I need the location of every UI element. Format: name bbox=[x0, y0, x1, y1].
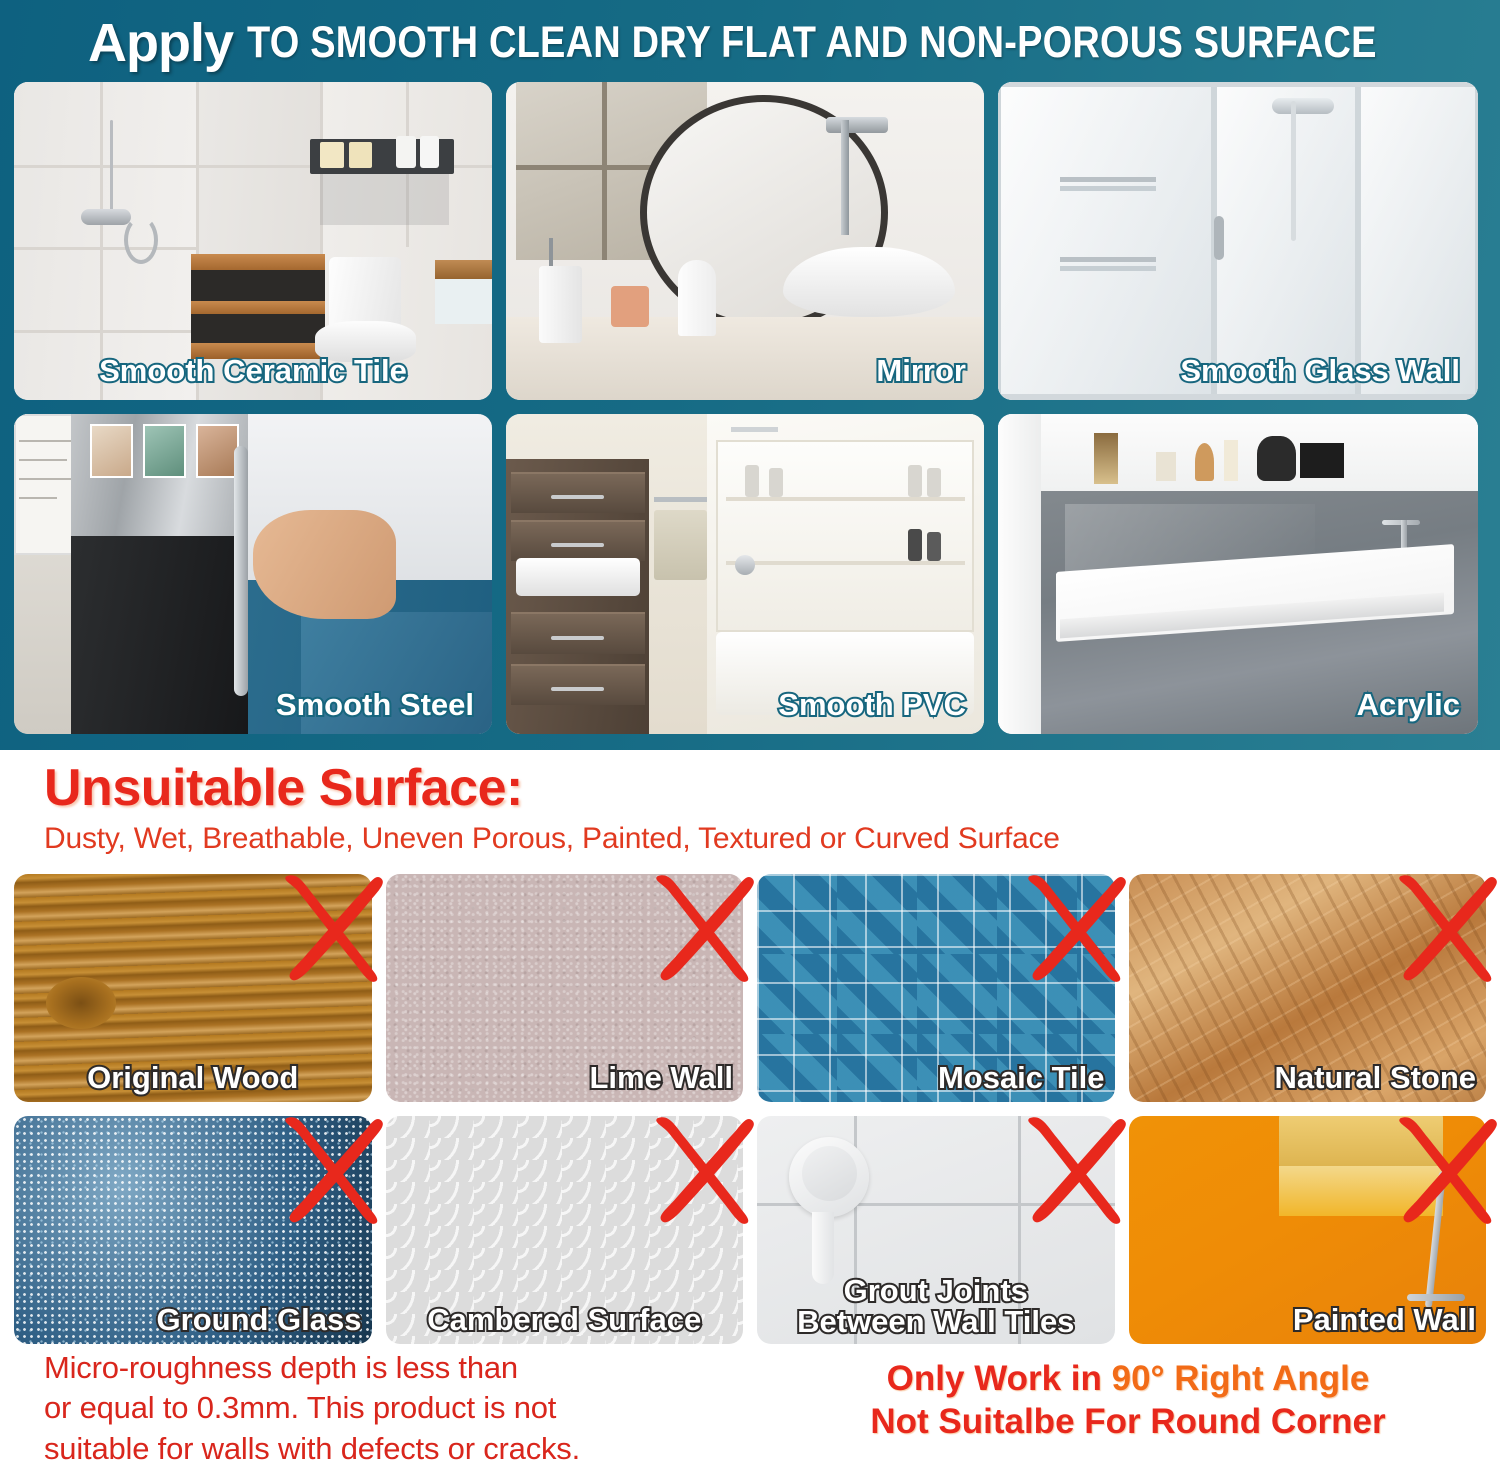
apply-headline-rest: TO SMOOTH CLEAN DRY FLAT AND NON-POROUS … bbox=[247, 18, 1377, 69]
apply-header: Apply TO SMOOTH CLEAN DRY FLAT AND NON-P… bbox=[0, 8, 1500, 78]
apply-grid-row-2: Smooth Steel bbox=[14, 414, 1486, 734]
infographic-page: Apply TO SMOOTH CLEAN DRY FLAT AND NON-P… bbox=[0, 0, 1500, 1472]
unsuitable-tile-label-line-2: Between Wall Tiles bbox=[797, 1306, 1074, 1338]
unsuitable-tile-original-wood: Original Wood bbox=[14, 874, 372, 1102]
photo-bathroom-round-mirror bbox=[506, 82, 984, 400]
footnote-line-1: Micro-roughness depth is less than bbox=[44, 1348, 704, 1388]
footnote-line-3: suitable for walls with defects or crack… bbox=[44, 1429, 704, 1469]
surface-tile-smooth-ceramic-tile: Smooth Ceramic Tile bbox=[14, 82, 492, 400]
surface-tile-smooth-pvc: Smooth PVC bbox=[506, 414, 984, 734]
surface-tile-label: Smooth Steel bbox=[276, 689, 474, 722]
unsuitable-tile-label-line-1: Grout Joints bbox=[797, 1275, 1074, 1307]
photo-stainless-steel-refrigerator bbox=[14, 414, 492, 734]
unsuitable-tile-mosaic-tile: Mosaic Tile bbox=[757, 874, 1115, 1102]
photo-acrylic-panel-bathtub bbox=[998, 414, 1478, 734]
apply-section: Apply TO SMOOTH CLEAN DRY FLAT AND NON-P… bbox=[0, 0, 1500, 750]
unsuitable-tile-label: Mosaic Tile bbox=[938, 1062, 1105, 1094]
footnote-right-accent: 90° Right Angle bbox=[1112, 1359, 1370, 1398]
apply-headline-accent: Apply bbox=[88, 16, 233, 70]
photo-glass-shower-enclosure bbox=[998, 82, 1478, 400]
unsuitable-tile-natural-stone: Natural Stone bbox=[1129, 874, 1487, 1102]
surface-tile-smooth-glass-wall: Smooth Glass Wall bbox=[998, 82, 1478, 400]
unsuitable-tile-label: Original Wood bbox=[87, 1062, 298, 1094]
surface-tile-smooth-steel: Smooth Steel bbox=[14, 414, 492, 734]
surface-tile-label: Smooth Glass Wall bbox=[1180, 355, 1460, 388]
unsuitable-tile-label-group: Grout Joints Between Wall Tiles bbox=[797, 1275, 1074, 1338]
surface-tile-mirror: Mirror bbox=[506, 82, 984, 400]
surface-tile-label: Smooth Ceramic Tile bbox=[99, 355, 407, 388]
surface-tile-acrylic: Acrylic bbox=[998, 414, 1478, 734]
unsuitable-tile-grout-joints: Grout Joints Between Wall Tiles bbox=[757, 1116, 1115, 1344]
unsuitable-tile-label: Lime Wall bbox=[589, 1062, 733, 1094]
footnote-micro-roughness: Micro-roughness depth is less than or eq… bbox=[44, 1348, 704, 1469]
surface-tile-label: Smooth PVC bbox=[778, 689, 966, 722]
photo-bathroom-ceramic-tile bbox=[14, 82, 492, 400]
unsuitable-grid: Original Wood Lime Wall bbox=[14, 874, 1486, 1344]
unsuitable-tile-label: Ground Glass bbox=[157, 1304, 362, 1336]
unsuitable-tile-ground-glass: Ground Glass bbox=[14, 1116, 372, 1344]
unsuitable-title: Unsuitable Surface: bbox=[44, 762, 523, 814]
footnote-right-line-1: Only Work in 90° Right Angle bbox=[770, 1358, 1486, 1401]
unsuitable-tile-painted-wall: Painted Wall bbox=[1129, 1116, 1487, 1344]
surface-tile-label: Acrylic bbox=[1357, 689, 1460, 722]
unsuitable-tile-label: Painted Wall bbox=[1293, 1304, 1476, 1336]
unsuitable-tile-label: Cambered Surface bbox=[427, 1304, 701, 1336]
photo-pvc-tub-surround bbox=[506, 414, 984, 734]
footnote-line-2: or equal to 0.3mm. This product is not bbox=[44, 1388, 704, 1428]
unsuitable-tile-label: Natural Stone bbox=[1274, 1062, 1476, 1094]
footnote-right-prefix: Only Work in bbox=[887, 1359, 1112, 1398]
unsuitable-tile-cambered-surface: Cambered Surface bbox=[386, 1116, 744, 1344]
footnote-right-angle: Only Work in 90° Right Angle Not Suitalb… bbox=[770, 1358, 1486, 1443]
unsuitable-tile-lime-wall: Lime Wall bbox=[386, 874, 744, 1102]
surface-tile-label: Mirror bbox=[876, 355, 966, 388]
footnote-right-line-2: Not Suitalbe For Round Corner bbox=[770, 1401, 1486, 1444]
apply-grid-row-1: Smooth Ceramic Tile Mirror bbox=[14, 82, 1486, 400]
unsuitable-subtitle: Dusty, Wet, Breathable, Uneven Porous, P… bbox=[44, 822, 1060, 856]
